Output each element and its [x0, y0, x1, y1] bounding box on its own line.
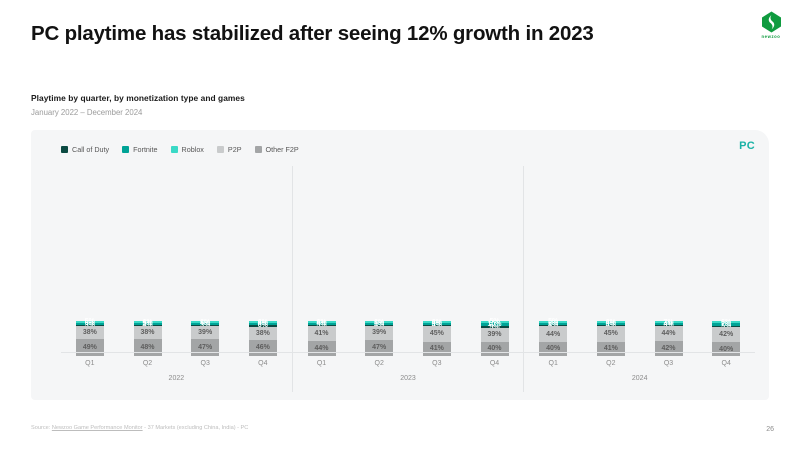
bar-segment-value: 42% [719, 331, 733, 338]
axis-quarter-label: Q4 [466, 353, 524, 373]
chart-period: January 2022 – December 2024 [31, 108, 245, 117]
bar-segment-value: 39% [372, 329, 386, 336]
legend-item[interactable]: Call of Duty [61, 145, 109, 154]
stacked-bar[interactable]: 6%4%4%45%41% [423, 321, 451, 356]
legend-label: P2P [228, 145, 242, 154]
stacked-bar[interactable]: 6%7%5%42%40% [712, 321, 740, 356]
legend-label: Fortnite [133, 145, 157, 154]
legend-label: Roblox [182, 145, 204, 154]
bar-segment-value: 38% [83, 329, 97, 336]
axis-quarter-ticks: Q1Q2Q3Q4 [293, 353, 524, 373]
axis-quarter-label: Q3 [176, 353, 234, 373]
axis-year-group: Q1Q2Q3Q42023 [292, 353, 524, 392]
page-number: 26 [766, 426, 774, 433]
bar-segment[interactable]: 39% [481, 328, 509, 342]
bar-segment-value: 49% [83, 344, 97, 351]
bar-segment[interactable]: 42% [712, 327, 740, 342]
quarter-column: 6%4%5%41%44% [293, 166, 351, 356]
quarter-column: 6%4%4%45%41% [408, 166, 466, 356]
quarter-column: 6%4%4%39%47% [350, 166, 408, 356]
stacked-bar[interactable]: 6%4%4%45%41% [597, 321, 625, 356]
stacked-bar[interactable]: 6%5%4%38%48% [134, 321, 162, 356]
legend-swatch-icon [171, 146, 178, 153]
bar-segment[interactable]: 38% [76, 326, 104, 339]
stacked-bar[interactable]: 6%4%3%39%47% [191, 321, 219, 356]
legend-label: Call of Duty [72, 145, 109, 154]
axis-year-label: 2022 [61, 373, 292, 382]
bar-segment[interactable]: 44% [539, 326, 567, 342]
chart-title: Playtime by quarter, by monetization typ… [31, 93, 245, 103]
axis-quarter-label: Q3 [408, 353, 466, 373]
source-link[interactable]: Newzoo Game Performance Monitor [52, 425, 143, 431]
source-prefix: Source: [31, 425, 52, 431]
source-suffix: - 37 Markets (excluding China, India) - … [143, 425, 249, 431]
bar-segment[interactable]: 38% [134, 326, 162, 339]
bar-segment-value: 44% [546, 331, 560, 338]
legend-label: Other F2P [266, 145, 299, 154]
bar-segment-value: 45% [604, 330, 618, 337]
bar-segment-value: 45% [430, 330, 444, 337]
stacked-bar[interactable]: 5%5%3%38%49% [76, 321, 104, 356]
bar-segment-value: 38% [140, 329, 154, 336]
stacked-bar[interactable]: 5%6%4%44%40% [539, 321, 567, 356]
chart-subhead: Playtime by quarter, by monetization typ… [31, 93, 245, 117]
bar-segment[interactable]: 39% [365, 326, 393, 340]
bar-segment[interactable]: 45% [423, 326, 451, 342]
bar-segment-value: 47% [372, 344, 386, 351]
axis-quarter-label: Q1 [524, 353, 582, 373]
year-group: 6%4%5%41%44%6%4%4%39%47%6%4%4%45%41%5%10… [292, 166, 524, 356]
axis-quarter-ticks: Q1Q2Q3Q4 [61, 353, 292, 373]
bar-segment-value: 39% [488, 331, 502, 338]
chart-plot-area: 5%5%3%38%49%6%5%4%38%48%6%4%3%39%47%6%4%… [61, 166, 755, 356]
axis-year-group: Q1Q2Q3Q42024 [523, 353, 755, 392]
axis-year-label: 2023 [293, 373, 524, 382]
bar-groups: 5%5%3%38%49%6%5%4%38%48%6%4%3%39%47%6%4%… [61, 166, 755, 356]
axis-year-group: Q1Q2Q3Q42022 [61, 353, 292, 392]
bar-segment[interactable]: 44% [655, 326, 683, 341]
axis-quarter-label: Q2 [119, 353, 177, 373]
newzoo-wordmark: newzoo [762, 34, 781, 39]
bar-segment[interactable]: 41% [308, 326, 336, 340]
stacked-bar[interactable]: 7%4%3%44%42% [655, 321, 683, 356]
newzoo-leaf-logo [761, 11, 782, 33]
chart-legend: Call of DutyFortniteRobloxP2POther F2P [61, 145, 299, 154]
bar-segment-value: 41% [314, 330, 328, 337]
legend-swatch-icon [122, 146, 129, 153]
quarter-column: 7%4%3%44%42% [640, 166, 698, 356]
slide: newzoo PC playtime has stabilized after … [0, 0, 800, 450]
axis-quarter-ticks: Q1Q2Q3Q4 [524, 353, 755, 373]
page-title: PC playtime has stabilized after seeing … [31, 22, 594, 46]
bar-segment-value: 44% [662, 330, 676, 337]
platform-tag: PC [739, 140, 755, 152]
axis-quarter-label: Q4 [234, 353, 292, 373]
axis-quarter-label: Q3 [640, 353, 698, 373]
legend-item[interactable]: Fortnite [122, 145, 157, 154]
legend-swatch-icon [255, 146, 262, 153]
axis-quarter-label: Q1 [61, 353, 119, 373]
bar-segment-value: 47% [198, 344, 212, 351]
bar-segment-value: 44% [314, 345, 328, 352]
quarter-column: 6%4%6%38%46% [234, 166, 292, 356]
bar-segment[interactable]: 39% [191, 326, 219, 340]
x-axis: Q1Q2Q3Q42022Q1Q2Q3Q42023Q1Q2Q3Q42024 [61, 352, 755, 392]
bar-segment[interactable]: 45% [597, 326, 625, 342]
stacked-bar[interactable]: 5%10%5%39%40% [481, 321, 509, 356]
axis-quarter-label: Q1 [293, 353, 351, 373]
stacked-bar[interactable]: 6%4%5%41%44% [308, 321, 336, 356]
legend-item[interactable]: Other F2P [255, 145, 299, 154]
bar-segment-value: 39% [198, 329, 212, 336]
axis-quarter-label: Q2 [350, 353, 408, 373]
bar-segment-value: 48% [140, 344, 154, 351]
axis-quarter-label: Q2 [582, 353, 640, 373]
quarter-column: 6%5%4%38%48% [119, 166, 177, 356]
stacked-bar[interactable]: 6%4%4%39%47% [365, 321, 393, 356]
quarter-column: 6%4%4%45%41% [582, 166, 640, 356]
axis-year-label: 2024 [524, 373, 755, 382]
newzoo-logo: newzoo [754, 8, 788, 42]
bar-segment[interactable]: 38% [249, 327, 277, 340]
year-group: 5%6%4%44%40%6%4%4%45%41%7%4%3%44%42%6%7%… [523, 166, 755, 356]
axis-quarter-label: Q4 [697, 353, 755, 373]
legend-item[interactable]: P2P [217, 145, 242, 154]
quarter-column: 6%4%3%39%47% [176, 166, 234, 356]
source-note: Source: Newzoo Game Performance Monitor … [31, 425, 248, 431]
year-group: 5%5%3%38%49%6%5%4%38%48%6%4%3%39%47%6%4%… [61, 166, 292, 356]
quarter-column: 5%10%5%39%40% [466, 166, 524, 356]
legend-swatch-icon [61, 146, 68, 153]
legend-swatch-icon [217, 146, 224, 153]
bar-segment-value: 38% [256, 330, 270, 337]
bar-segment-value: 46% [256, 344, 270, 351]
chart-panel: PC Call of DutyFortniteRobloxP2POther F2… [31, 130, 769, 400]
legend-item[interactable]: Roblox [171, 145, 204, 154]
quarter-column: 5%6%4%44%40% [524, 166, 582, 356]
quarter-column: 6%7%5%42%40% [697, 166, 755, 356]
quarter-column: 5%5%3%38%49% [61, 166, 119, 356]
stacked-bar[interactable]: 6%4%6%38%46% [249, 321, 277, 356]
